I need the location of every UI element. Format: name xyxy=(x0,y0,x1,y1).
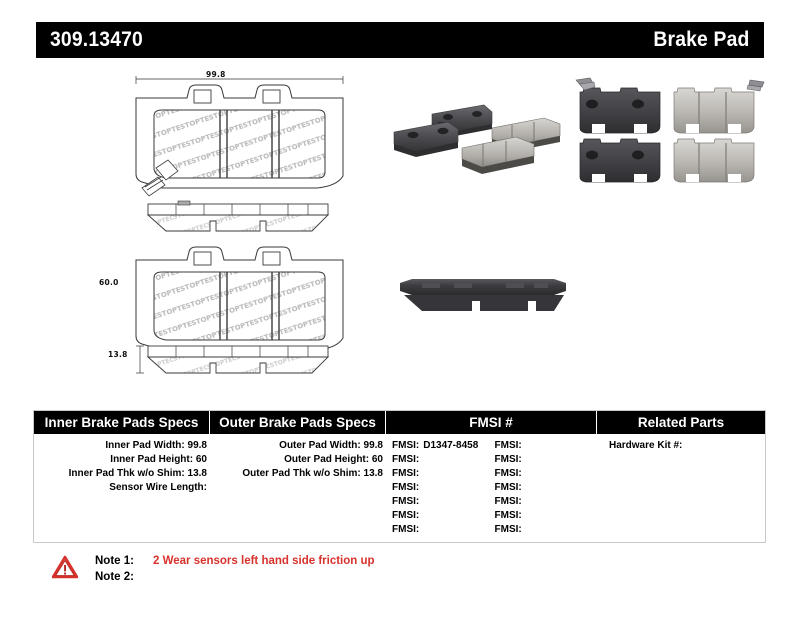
outer-specs-column: Outer Pad Width: 99.8 Outer Pad Height: … xyxy=(210,439,386,542)
spec-value: 13.8 xyxy=(188,468,207,479)
fmsi-row: FMSI: xyxy=(392,509,495,523)
drawing-inner-pad-front: STOPTECH STOPTECH xyxy=(132,76,347,201)
fmsi-value xyxy=(419,496,423,507)
fmsi-row: FMSI:D1347-8458 xyxy=(392,439,495,453)
spec-label: Outer Pad Thk w/o Shim: xyxy=(242,468,360,479)
technical-drawings: 99.8 STOPTECH STOPTECH xyxy=(100,66,350,386)
note-value: 2 Wear sensors left hand side friction u… xyxy=(147,553,375,569)
spec-value: 60 xyxy=(372,454,383,465)
header-bar: 309.13470 Brake Pad xyxy=(36,22,764,58)
photo-pads-angled xyxy=(388,84,578,199)
spec-label: Sensor Wire Length: xyxy=(109,482,207,493)
note-item: Note 1: 2 Wear sensors left hand side fr… xyxy=(95,553,375,569)
spec-row: Inner Pad Height: 60 xyxy=(34,453,207,467)
spec-table: Inner Brake Pads Specs Outer Brake Pads … xyxy=(33,410,766,543)
fmsi-row: FMSI: xyxy=(495,453,598,467)
related-part-row: Hardware Kit #: xyxy=(609,439,765,453)
fmsi-label: FMSI: xyxy=(495,510,522,521)
spec-value: 13.8 xyxy=(364,468,383,479)
fmsi-label: FMSI: xyxy=(495,482,522,493)
fmsi-column: FMSI:D1347-8458 FMSI: FMSI: FMSI: FMSI: … xyxy=(386,439,597,542)
fmsi-row: FMSI: xyxy=(495,439,598,453)
photo-pads-grid xyxy=(568,74,773,194)
spec-row: Sensor Wire Length: xyxy=(34,481,207,495)
fmsi-row: FMSI: xyxy=(392,495,495,509)
spec-row: Outer Pad Height: 60 xyxy=(210,453,383,467)
spec-label: Outer Pad Width: xyxy=(279,440,361,451)
fmsi-value xyxy=(522,482,526,493)
fmsi-row: FMSI: xyxy=(495,523,598,537)
fmsi-label: FMSI: xyxy=(392,482,419,493)
fmsi-row: FMSI: xyxy=(392,467,495,481)
fmsi-subcolumn-left: FMSI:D1347-8458 FMSI: FMSI: FMSI: FMSI: … xyxy=(392,439,495,542)
fmsi-value xyxy=(522,510,526,521)
spec-value: 99.8 xyxy=(188,440,207,451)
column-header-related-parts: Related Parts xyxy=(597,411,765,434)
fmsi-value xyxy=(419,524,423,535)
part-number: 309.13470 xyxy=(50,28,143,52)
related-parts-column: Hardware Kit #: xyxy=(597,439,765,542)
product-photos xyxy=(380,66,780,386)
notes-list: Note 1: 2 Wear sensors left hand side fr… xyxy=(95,553,375,585)
spec-table-header-row: Inner Brake Pads Specs Outer Brake Pads … xyxy=(34,411,765,434)
fmsi-value xyxy=(522,454,526,465)
fmsi-label: FMSI: xyxy=(495,454,522,465)
fmsi-value: D1347-8458 xyxy=(419,440,478,451)
drawing-inner-pad-profile xyxy=(136,200,341,242)
fmsi-value xyxy=(419,468,423,479)
dimension-label-height: 60.0 xyxy=(99,278,119,287)
fmsi-row: FMSI: xyxy=(392,453,495,467)
fmsi-row: FMSI: xyxy=(495,467,598,481)
fmsi-label: FMSI: xyxy=(495,468,522,479)
column-header-outer-specs: Outer Brake Pads Specs xyxy=(210,411,386,434)
drawing-outer-pad-profile xyxy=(136,342,341,384)
fmsi-label: FMSI: xyxy=(392,524,419,535)
spec-value: 60 xyxy=(196,454,207,465)
spec-row: Outer Pad Thk w/o Shim: 13.8 xyxy=(210,467,383,481)
column-header-fmsi: FMSI # xyxy=(386,411,597,434)
spec-label: Inner Pad Thk w/o Shim: xyxy=(69,468,185,479)
product-spec-sheet: 309.13470 Brake Pad 99.8 STOPTECH STOPTE… xyxy=(0,0,800,619)
note-item: Note 2: xyxy=(95,569,375,585)
fmsi-value xyxy=(419,454,423,465)
note-label: Note 1: xyxy=(95,553,147,569)
fmsi-value xyxy=(522,496,526,507)
photo-pad-edge xyxy=(394,271,574,336)
fmsi-label: FMSI: xyxy=(392,510,419,521)
warning-triangle-icon xyxy=(52,555,78,579)
fmsi-label: FMSI: xyxy=(495,524,522,535)
spec-value: 99.8 xyxy=(364,440,383,451)
fmsi-value xyxy=(419,510,423,521)
fmsi-value xyxy=(522,524,526,535)
related-part-label: Hardware Kit #: xyxy=(609,440,682,451)
fmsi-label: FMSI: xyxy=(495,440,522,451)
fmsi-row: FMSI: xyxy=(495,509,598,523)
column-header-inner-specs: Inner Brake Pads Specs xyxy=(34,411,210,434)
spec-row: Inner Pad Width: 99.8 xyxy=(34,439,207,453)
fmsi-value xyxy=(522,440,526,451)
fmsi-value xyxy=(419,482,423,493)
fmsi-row: FMSI: xyxy=(392,481,495,495)
spec-label: Inner Pad Height: xyxy=(110,454,193,465)
spec-row: Outer Pad Width: 99.8 xyxy=(210,439,383,453)
notes-section: Note 1: 2 Wear sensors left hand side fr… xyxy=(52,553,375,585)
fmsi-label: FMSI: xyxy=(392,454,419,465)
product-type: Brake Pad xyxy=(654,28,750,52)
dimension-label-thickness: 13.8 xyxy=(108,350,128,359)
fmsi-label: FMSI: xyxy=(495,496,522,507)
fmsi-subcolumn-right: FMSI: FMSI: FMSI: FMSI: FMSI: FMSI: FMSI… xyxy=(495,439,598,542)
fmsi-row: FMSI: xyxy=(495,495,598,509)
spec-label: Inner Pad Width: xyxy=(105,440,184,451)
fmsi-label: FMSI: xyxy=(392,496,419,507)
fmsi-row: FMSI: xyxy=(495,481,598,495)
spec-row: Inner Pad Thk w/o Shim: 13.8 xyxy=(34,467,207,481)
note-value xyxy=(147,569,153,585)
fmsi-label: FMSI: xyxy=(392,468,419,479)
fmsi-value xyxy=(522,468,526,479)
fmsi-row: FMSI: xyxy=(392,523,495,537)
spec-label: Outer Pad Height: xyxy=(284,454,369,465)
fmsi-label: FMSI: xyxy=(392,440,419,451)
note-label: Note 2: xyxy=(95,569,147,585)
inner-specs-column: Inner Pad Width: 99.8 Inner Pad Height: … xyxy=(34,439,210,542)
spec-table-body: Inner Pad Width: 99.8 Inner Pad Height: … xyxy=(34,434,765,542)
